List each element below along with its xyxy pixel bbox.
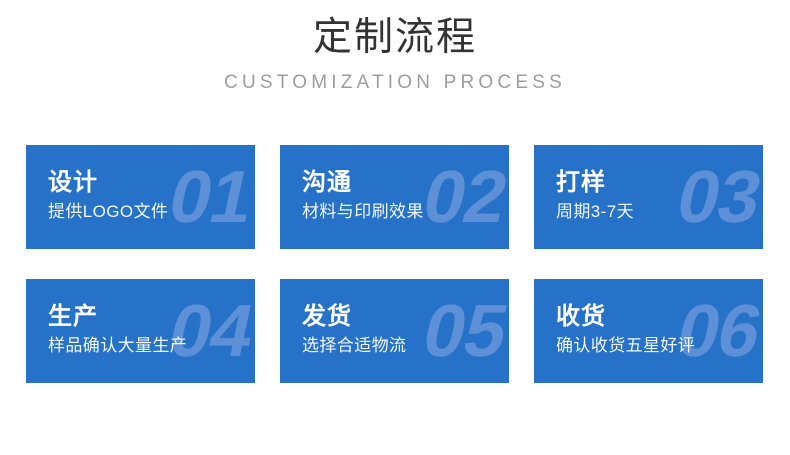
step-description: 样品确认大量生产 [48, 334, 255, 358]
step-description: 周期3-7天 [556, 200, 763, 224]
page-header: 定制流程 CUSTOMIZATION PROCESS [0, 14, 790, 94]
step-description: 确认收货五星好评 [556, 334, 763, 358]
customization-process-page: 定制流程 CUSTOMIZATION PROCESS 01 设计 提供LOGO文… [0, 0, 790, 455]
process-step-grid: 01 设计 提供LOGO文件 02 沟通 材料与印刷效果 03 打样 周期3-7… [26, 145, 763, 383]
process-step-card-02[interactable]: 02 沟通 材料与印刷效果 [280, 145, 509, 249]
process-step-card-06[interactable]: 06 收货 确认收货五星好评 [534, 279, 763, 383]
step-text-block: 沟通 材料与印刷效果 [302, 169, 509, 224]
step-description: 提供LOGO文件 [48, 200, 255, 224]
step-title: 生产 [48, 303, 255, 331]
step-description: 选择合适物流 [302, 334, 509, 358]
step-title: 收货 [556, 303, 763, 331]
step-text-block: 设计 提供LOGO文件 [48, 169, 255, 224]
step-text-block: 收货 确认收货五星好评 [556, 303, 763, 358]
step-description: 材料与印刷效果 [302, 200, 509, 224]
process-step-card-03[interactable]: 03 打样 周期3-7天 [534, 145, 763, 249]
step-title: 打样 [556, 169, 763, 197]
step-title: 设计 [48, 169, 255, 197]
step-title: 发货 [302, 303, 509, 331]
process-step-card-01[interactable]: 01 设计 提供LOGO文件 [26, 145, 255, 249]
step-text-block: 打样 周期3-7天 [556, 169, 763, 224]
step-title: 沟通 [302, 169, 509, 197]
step-text-block: 生产 样品确认大量生产 [48, 303, 255, 358]
page-subtitle: CUSTOMIZATION PROCESS [0, 72, 790, 94]
page-title: 定制流程 [0, 14, 790, 62]
step-text-block: 发货 选择合适物流 [302, 303, 509, 358]
process-step-card-05[interactable]: 05 发货 选择合适物流 [280, 279, 509, 383]
process-step-card-04[interactable]: 04 生产 样品确认大量生产 [26, 279, 255, 383]
